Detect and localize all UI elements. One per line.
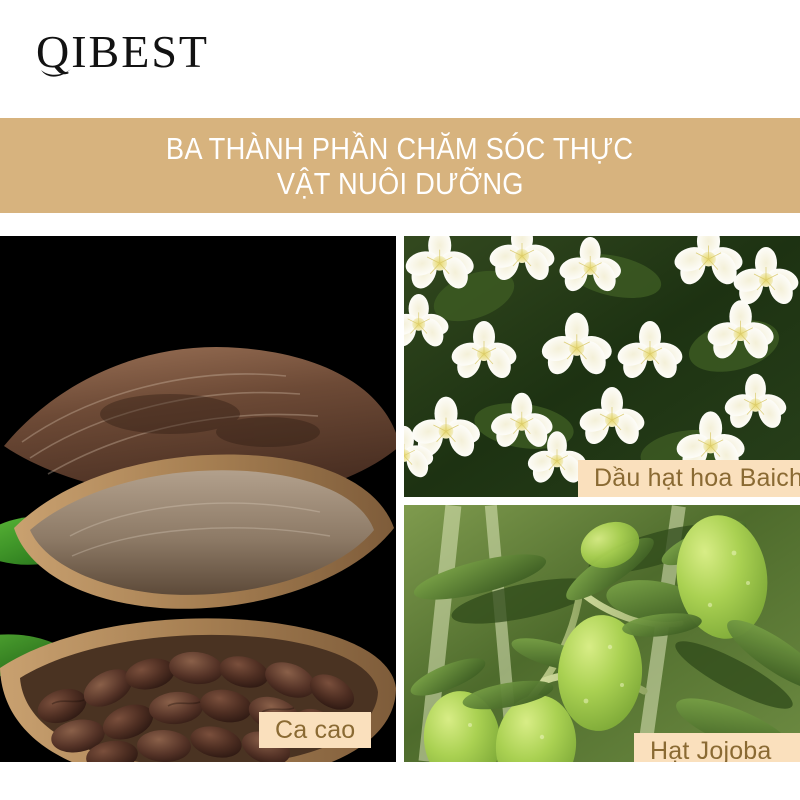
jojoba-fruit-photo <box>404 505 800 762</box>
infographic-page: QIBEST BA THÀNH PHẦN CHĂM SÓC THỰC VẬT N… <box>0 0 800 800</box>
ingredient-photo-grid: Ca cao <box>0 236 800 762</box>
title-banner: BA THÀNH PHẦN CHĂM SÓC THỰC VẬT NUÔI DƯỠ… <box>0 118 800 213</box>
caption-cacao: Ca cao <box>259 712 371 748</box>
ingredient-panel-cacao: Ca cao <box>0 236 396 762</box>
ingredient-panel-jojoba: Hạt Jojoba <box>404 505 800 762</box>
brand-header: QIBEST <box>0 0 800 118</box>
baichi-flower-photo <box>404 236 800 497</box>
ingredient-panel-baichi-flower: Dầu hạt hoa Baichi <box>404 236 800 497</box>
banner-title-line-1: BA THÀNH PHẦN CHĂM SÓC THỰC <box>166 131 633 166</box>
brand-logo-text: QIBEST <box>36 26 209 77</box>
banner-title-line-2: VẬT NUÔI DƯỠNG <box>277 166 524 201</box>
caption-baichi-flower: Dầu hạt hoa Baichi <box>578 460 800 497</box>
cacao-pod-photo <box>0 236 396 762</box>
brand-logo: QIBEST <box>36 26 209 78</box>
caption-jojoba: Hạt Jojoba <box>634 733 800 762</box>
